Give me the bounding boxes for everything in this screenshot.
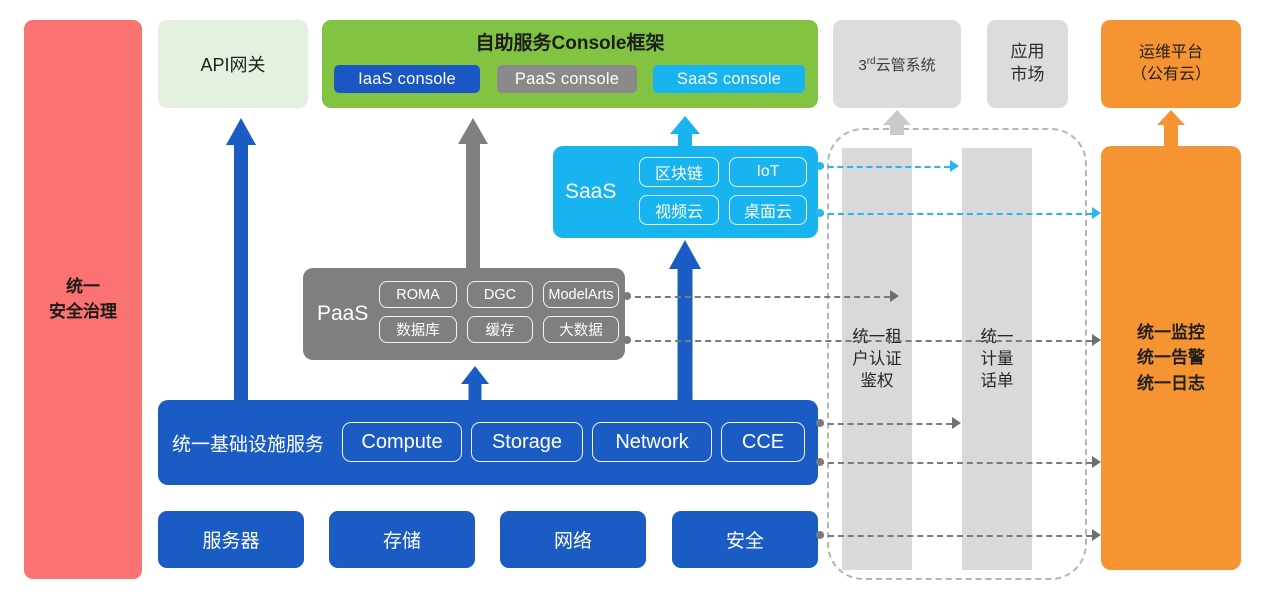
arrow-saas-to-console (670, 116, 700, 147)
saas-chip-blockchain: 区块链 (639, 157, 719, 187)
shared-auth-line1: 统一租 (852, 326, 902, 348)
paas-chip-dgc: DGC (467, 281, 533, 308)
dashed-arrow-head-icon (1092, 207, 1101, 219)
infra-chip-network: Network (592, 422, 712, 462)
arrow-infra-to-paas (461, 366, 489, 401)
dashed-arrow-head-icon (1092, 456, 1101, 468)
shared-auth-line2: 户认证 (852, 348, 902, 370)
shared-auth-line3: 鉴权 (852, 370, 902, 392)
arrow-shaft (890, 124, 904, 135)
saas-console-chip: SaaS console (653, 65, 805, 93)
app-market-line1: 应用 (1011, 41, 1045, 64)
dashed-arrow-head-icon (950, 160, 959, 172)
infra-chip-cce: CCE (721, 422, 805, 462)
paas-chip-cache: 缓存 (467, 316, 533, 343)
third-party-cloud-mgmt-box: 3rd云管系统 (833, 20, 961, 108)
shared-service-column-metering: 统一 计量 话单 (962, 148, 1032, 570)
hardware-label-server: 服务器 (202, 526, 259, 553)
arrow-shaft (234, 143, 248, 401)
ops-column-line3: 统一日志 (1137, 371, 1205, 397)
api-gateway-box: API网关 (158, 20, 308, 108)
ops-column-line1: 统一监控 (1137, 320, 1205, 346)
arrow-infra-to-saas (670, 240, 700, 401)
saas-chip-video-cloud: 视频云 (639, 195, 719, 225)
paas-console-chip: PaaS console (497, 65, 637, 93)
dashed-line-origin-dot (816, 419, 824, 427)
arrow-head-icon (670, 116, 700, 134)
paas-chip-roma: ROMA (379, 281, 457, 308)
paas-chip-bigdata: 大数据 (543, 316, 619, 343)
dashed-line-origin-dot (816, 458, 824, 466)
app-market-box: 应用 市场 (987, 20, 1068, 108)
third-cloud-sup: rd (867, 56, 876, 67)
hardware-label-network: 网络 (554, 526, 592, 553)
shared-metering-line1: 统一 (981, 326, 1014, 348)
arrow-shaft (469, 383, 482, 401)
third-cloud-rest: 云管系统 (876, 57, 936, 74)
dashed-arrow-head-icon (1092, 334, 1101, 346)
dashed-line-infra-to-ops (818, 462, 1092, 464)
dashed-line-hardware-to-ops (818, 535, 1092, 537)
console-framework-title: 自助服务Console框架 (322, 28, 818, 55)
hardware-box-network: 网络 (500, 511, 646, 568)
hardware-label-security: 安全 (726, 526, 764, 553)
shared-metering-line2: 计量 (981, 348, 1014, 370)
arrow-head-icon (461, 366, 489, 384)
dashed-arrow-head-icon (952, 417, 961, 429)
infra-chip-storage: Storage (471, 422, 583, 462)
ops-platform-line1: 运维平台 (1131, 42, 1211, 64)
dashed-line-infra-to-auth (818, 423, 952, 425)
dashed-arrow-head-icon (1092, 529, 1101, 541)
arrow-paas-to-console (458, 118, 488, 270)
saas-layer-label: SaaS (565, 180, 616, 204)
arrow-head-icon (669, 240, 701, 269)
arrow-infra-to-api-gateway (226, 118, 256, 401)
security-governance-line2: 安全治理 (49, 300, 117, 325)
arrow-shaft (678, 133, 692, 147)
ops-platform-line2: （公有云） (1131, 64, 1211, 86)
dashed-line-origin-dot (816, 162, 824, 170)
arrow-head-icon (1157, 110, 1185, 125)
paas-chip-database: 数据库 (379, 316, 457, 343)
dashed-line-origin-dot (816, 209, 824, 217)
dashed-line-paas-to-ops (625, 340, 1092, 342)
unified-infrastructure-label: 统一基础设施服务 (172, 429, 324, 456)
infra-chip-compute: Compute (342, 422, 462, 462)
console-framework-box: 自助服务Console框架 IaaS console PaaS console … (322, 20, 818, 108)
dashed-line-saas-to-auth (818, 166, 950, 168)
arrow-to-third-party-cloud (883, 110, 911, 135)
paas-layer-label: PaaS (317, 302, 368, 326)
shared-metering-line3: 话单 (981, 370, 1014, 392)
dashed-line-saas-to-ops (818, 213, 1092, 215)
api-gateway-label: API网关 (200, 51, 265, 77)
hardware-label-storage: 存储 (383, 526, 421, 553)
arrow-shaft (678, 268, 693, 401)
third-party-cloud-mgmt-label: 3rd云管系统 (858, 54, 935, 75)
ops-platform-header-box: 运维平台 （公有云） (1101, 20, 1241, 108)
dashed-line-paas-to-auth (625, 296, 890, 298)
security-governance-line1: 统一 (49, 275, 117, 300)
hardware-box-security: 安全 (672, 511, 818, 568)
paas-chip-modelarts: ModelArts (543, 281, 619, 308)
arrow-head-icon (458, 118, 488, 144)
security-governance-column: 统一 安全治理 (24, 20, 142, 579)
arrow-to-ops-platform (1157, 110, 1185, 147)
unified-infrastructure-box: 统一基础设施服务 Compute Storage Network CCE (158, 400, 818, 485)
arrow-shaft (466, 142, 480, 270)
dashed-line-origin-dot (623, 292, 631, 300)
shared-service-column-auth: 统一租 户认证 鉴权 (842, 148, 912, 570)
third-cloud-prefix: 3 (858, 57, 866, 74)
paas-layer-box: PaaS ROMA DGC ModelArts 数据库 缓存 大数据 (303, 268, 625, 360)
arrow-head-icon (226, 118, 256, 145)
saas-chip-iot: IoT (729, 157, 807, 187)
saas-chip-desktop-cloud: 桌面云 (729, 195, 807, 225)
arrow-shaft (1164, 124, 1178, 147)
iaas-console-chip: IaaS console (334, 65, 480, 93)
hardware-box-storage: 存储 (329, 511, 475, 568)
architecture-diagram: 统一 安全治理 API网关 自助服务Console框架 IaaS console… (0, 0, 1265, 605)
ops-column-line2: 统一告警 (1137, 345, 1205, 371)
arrow-head-icon (883, 110, 911, 125)
ops-platform-column: 统一监控 统一告警 统一日志 (1101, 146, 1241, 570)
app-market-line2: 市场 (1011, 64, 1045, 87)
dashed-line-origin-dot (816, 531, 824, 539)
hardware-box-server: 服务器 (158, 511, 304, 568)
dashed-arrow-head-icon (890, 290, 899, 302)
saas-layer-box: SaaS 区块链 IoT 视频云 桌面云 (553, 146, 818, 238)
dashed-line-origin-dot (623, 336, 631, 344)
